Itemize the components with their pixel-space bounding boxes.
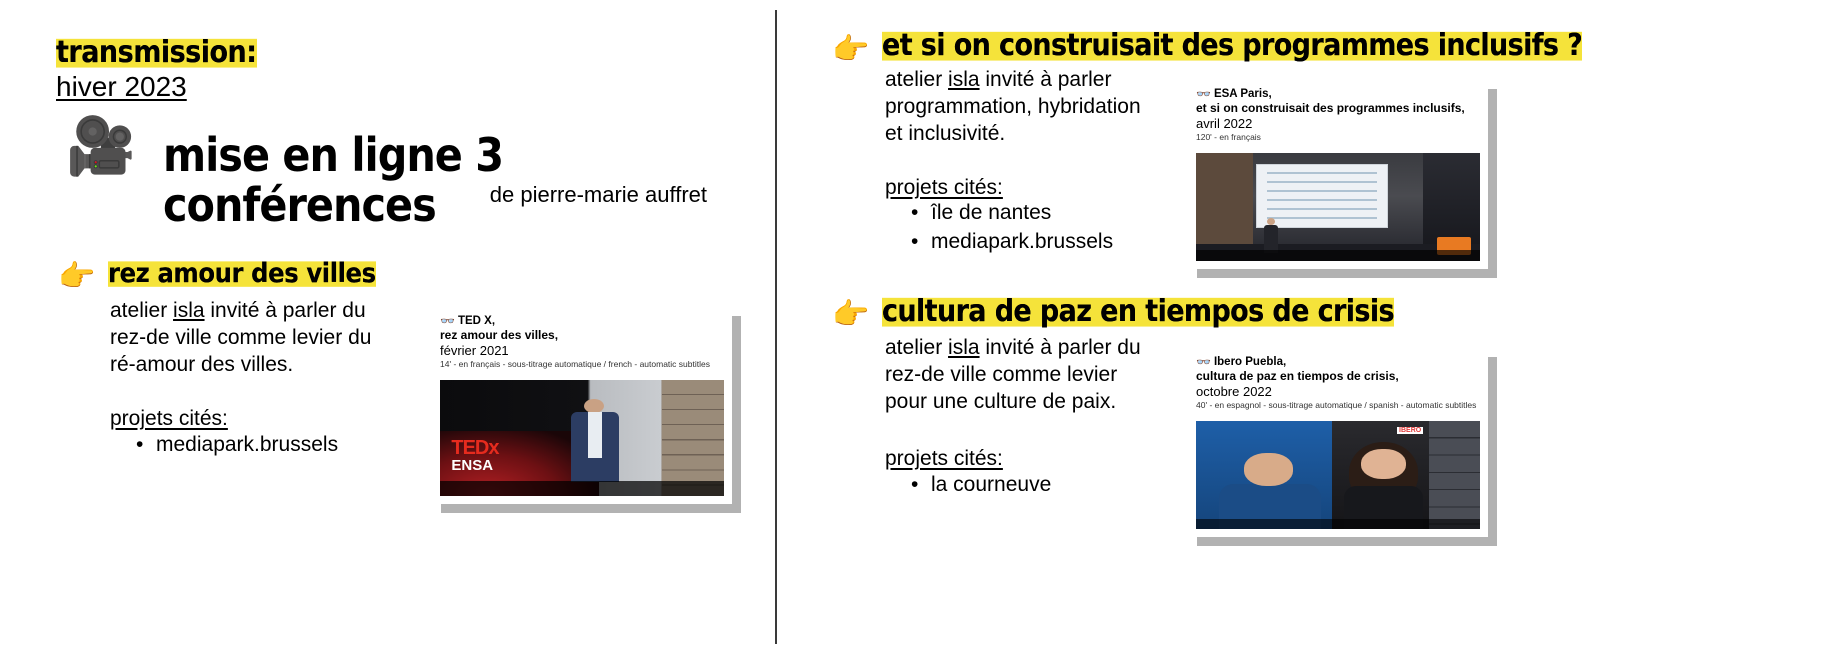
thumb-speaker-head [584,399,604,413]
video-card-meta: 40' - en espagnol - sous-titrage automat… [1196,400,1480,411]
thumb-presentation-screen [1256,164,1389,229]
pointing-hand-icon: 👉 [58,262,95,292]
body-text-line-2: rez-de ville comme levier du [110,326,371,349]
pointing-hand-icon: 👉 [832,35,869,65]
season-subtitle-text: hiver 2023 [56,71,187,102]
video-card-source-text: TED X, [458,314,495,328]
section-body-programmes-inclusifs: atelier isla invité à parler programmati… [885,66,1185,147]
video-card-source-text: ESA Paris, [1214,87,1272,101]
thumb-speaker-figure [571,399,619,483]
thumb-building-grid [662,380,724,496]
thumb-player-bar[interactable] [1196,250,1480,261]
video-card-date: avril 2022 [1196,116,1480,132]
transmission-title-text: transmission: [56,35,257,70]
thumb-participant-left-face [1244,453,1292,485]
video-card-title: rez amour des villes, [440,328,724,343]
thumb-speaker-shirt [588,412,602,458]
thumb-player-bar[interactable] [1196,519,1480,529]
video-card-date: février 2021 [440,343,724,359]
season-subtitle: hiver 2023 [56,70,187,104]
video-card-tedx[interactable]: 👓 TED X, rez amour des villes, février 2… [432,307,732,504]
video-card-title: et si on construisait des programmes inc… [1196,101,1480,116]
slide-canvas: transmission: hiver 2023 🎥 mise en ligne… [0,0,1837,654]
cited-projects-label: projets cités: [885,445,1003,472]
section-heading-programmes-inclusifs-text: et si on construisait des programmes inc… [882,28,1582,63]
cited-projects-list: la courneuve [905,470,1051,499]
author-byline: de pierre-marie auffret [163,182,707,208]
body-text-part-b: invité à parler du [980,336,1141,359]
list-item[interactable]: la courneuve [931,470,1051,499]
section-heading-rez-amour-text: rez amour des villes [108,258,376,289]
body-text-part-a: atelier [885,336,948,359]
transmission-title: transmission: [56,36,257,70]
thumb-participant-right-face [1361,449,1406,479]
isla-link[interactable]: isla [948,336,980,359]
isla-link[interactable]: isla [173,299,205,322]
thumb-participant-strip [1429,421,1480,529]
esa-paris-lecture-thumbnail[interactable] [1196,153,1480,261]
video-card-esa[interactable]: 👓 ESA Paris, et si on construisait des p… [1188,80,1488,269]
video-card-date: octobre 2022 [1196,384,1480,400]
ibero-puebla-videocall-thumbnail[interactable]: IBERO [1196,421,1480,529]
cited-projects-list: île de nantes mediapark.brussels [905,198,1113,256]
body-text-line-2: rez-de ville comme levier [885,363,1117,386]
right-panel: 👉 et si on construisait des programmes i… [777,0,1837,654]
glasses-icon: 👓 [1196,87,1211,101]
list-item[interactable]: île de nantes [931,198,1113,227]
section-heading-rez-amour: rez amour des villes [108,258,376,290]
pointing-hand-icon: 👉 [832,300,869,330]
section-heading-programmes-inclusifs: et si on construisait des programmes inc… [882,28,1582,64]
thumb-player-bar[interactable] [440,481,724,496]
body-text-line-3: ré-amour des villes. [110,353,293,376]
body-text-line-3: et inclusivité. [885,122,1005,145]
video-card-ibero-inner: 👓 Ibero Puebla, cultura de paz en tiempo… [1188,348,1488,419]
body-text-part-b: invité à parler du [205,299,366,322]
section-heading-cultura-de-paz: cultura de paz en tiempos de crisis [882,294,1394,330]
glasses-icon: 👓 [440,314,455,328]
section-body-rez-amour: atelier isla invité à parler du rez-de v… [110,297,440,378]
video-card-tedx-inner: 👓 TED X, rez amour des villes, février 2… [432,307,732,378]
section-heading-cultura-de-paz-text: cultura de paz en tiempos de crisis [882,294,1394,329]
video-card-meta: 120' - en français [1196,132,1480,143]
video-card-meta: 14' - en français - sous-titrage automat… [440,359,724,370]
tedx-logo-text: TEDx [451,437,498,459]
body-text-line-3: pour une culture de paix. [885,390,1116,413]
video-card-source: 👓 TED X, [440,314,724,328]
video-card-ibero[interactable]: 👓 Ibero Puebla, cultura de paz en tiempo… [1188,348,1488,537]
ibero-badge: IBERO [1397,427,1423,434]
video-card-title: cultura de paz en tiempos de crisis, [1196,369,1480,384]
video-card-source: 👓 ESA Paris, [1196,87,1480,101]
video-card-esa-inner: 👓 ESA Paris, et si on construisait des p… [1188,80,1488,151]
cited-projects-label: projets cités: [110,405,228,432]
glasses-icon: 👓 [1196,355,1211,369]
video-card-source-text: Ibero Puebla, [1214,355,1286,369]
tedx-logo: TEDx ENSA [451,439,498,475]
section-body-cultura-de-paz: atelier isla invité à parler du rez-de v… [885,334,1185,415]
tedx-talk-thumbnail[interactable]: TEDx ENSA [440,380,724,496]
tedx-logo-subtext: ENSA [451,457,498,475]
cited-projects-label: projets cités: [885,174,1003,201]
cited-projects-list: mediapark.brussels [130,430,338,459]
body-text-part-a: atelier [110,299,173,322]
body-text-line-2: programmation, hybridation [885,95,1141,118]
list-item[interactable]: mediapark.brussels [156,430,338,459]
film-projector-icon: 🎥 [66,118,136,174]
video-card-source: 👓 Ibero Puebla, [1196,355,1480,369]
body-text-part-b: invité à parler [980,68,1112,91]
isla-link[interactable]: isla [948,68,980,91]
conferences-headline: mise en ligne 3 conférences [163,130,723,230]
body-text-part-a: atelier [885,68,948,91]
list-item[interactable]: mediapark.brussels [931,227,1113,256]
left-panel: transmission: hiver 2023 🎥 mise en ligne… [0,0,775,654]
